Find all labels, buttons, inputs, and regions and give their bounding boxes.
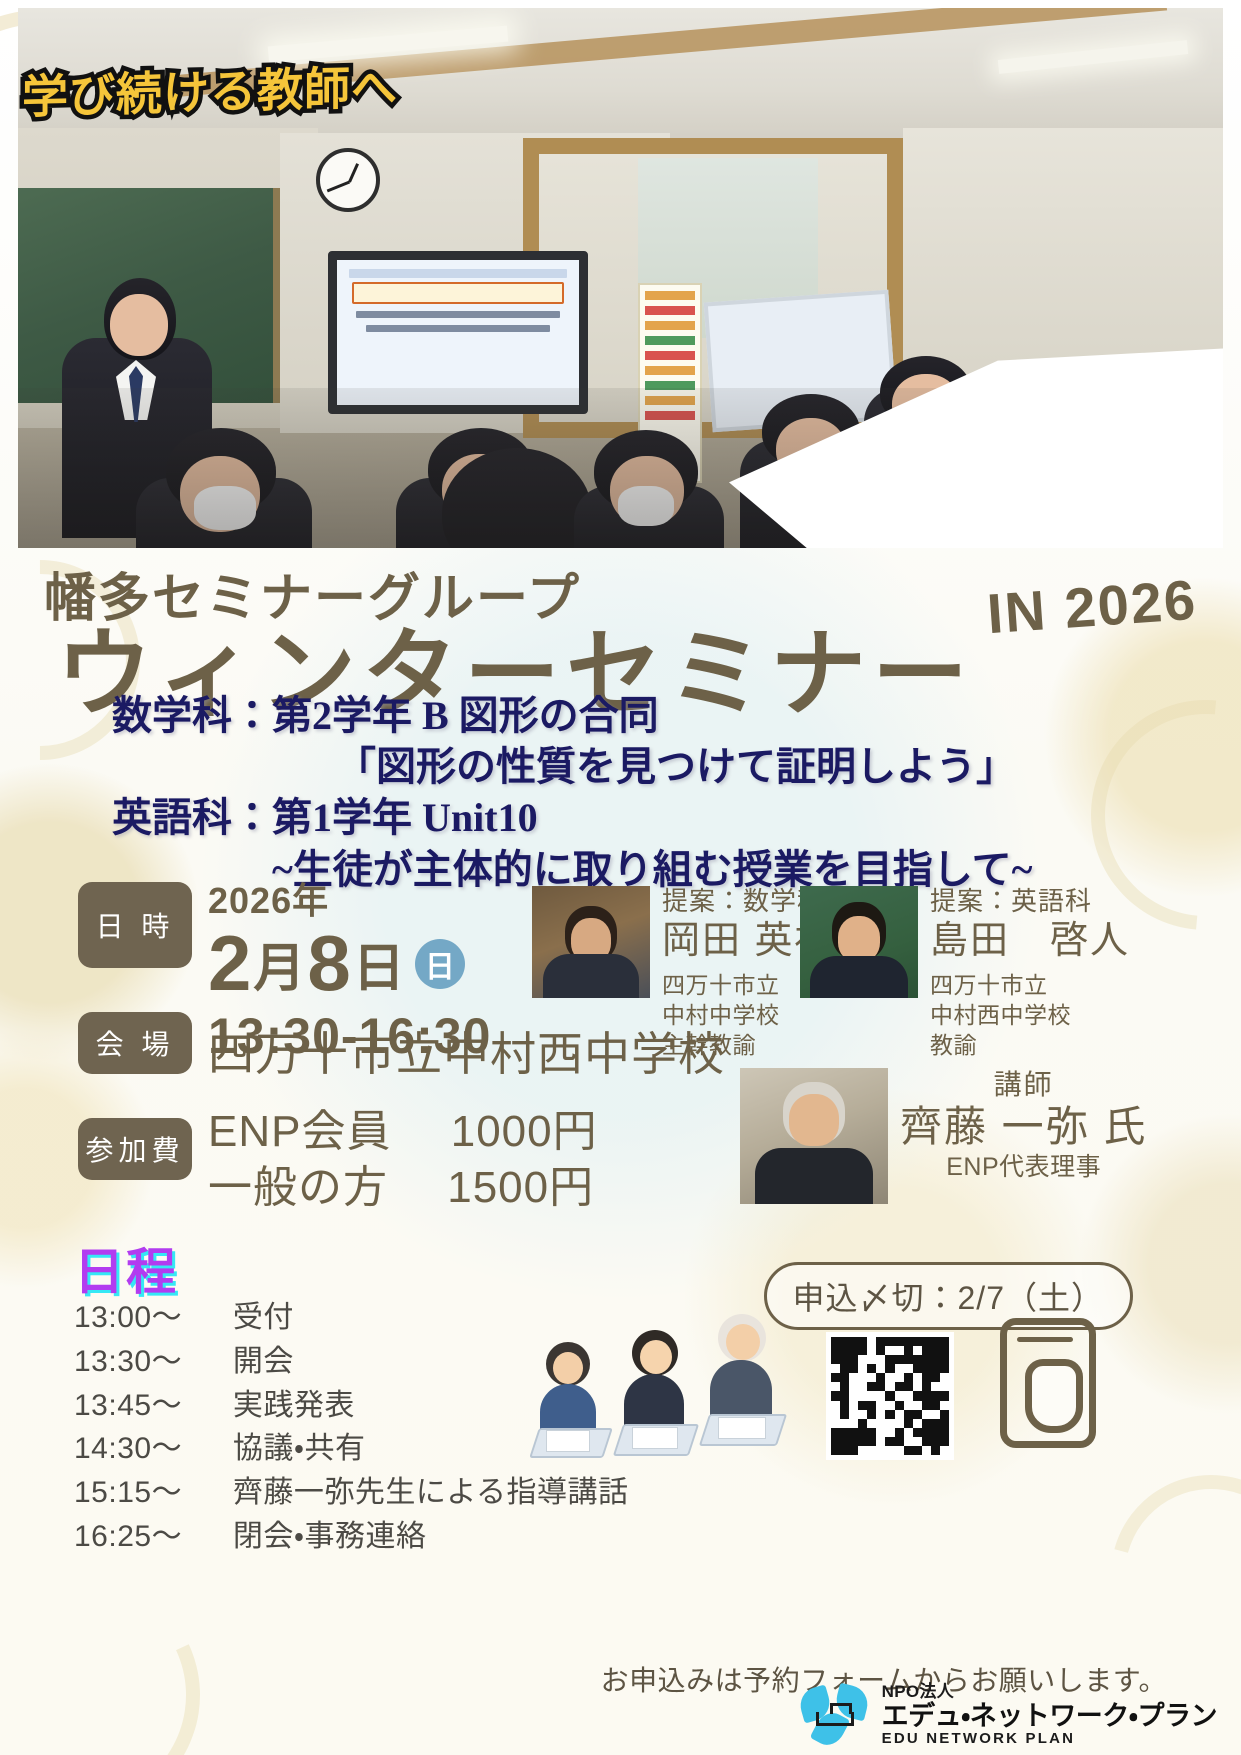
schedule-item: 15:15～ 齊藤一弥先生による指導講話 — [74, 1471, 628, 1515]
fee-badge: 参加費 — [78, 1118, 192, 1180]
fee-values: ENP会員 1000円 一般の方 1500円 — [208, 1104, 598, 1217]
lecturer: 講師 齊藤 一弥 氏 ENP代表理事 — [740, 1068, 1147, 1204]
hand-tap-phone-icon — [1000, 1318, 1096, 1448]
fee-amount-general: 1500円 — [447, 1163, 594, 1212]
presenter-english-affiliation-3: 教諭 — [930, 1031, 1130, 1061]
npo-logo: NPO法人 エデュ・ネットワーク・プラン EDU NETWORK PLAN — [800, 1683, 1217, 1747]
title-year: IN 2026 — [985, 567, 1199, 647]
schedule-time: 13:00～ — [74, 1296, 224, 1340]
presenter-english-affiliation-2: 中村西中学校 — [930, 1001, 1130, 1031]
schedule-time: 14:30～ — [74, 1427, 224, 1471]
qr-code[interactable] — [826, 1332, 954, 1460]
lecturer-role: 講師 — [900, 1068, 1147, 1102]
presenter-english-photo — [800, 886, 918, 998]
wall-clock — [316, 148, 380, 212]
datetime-month-unit: 月 — [253, 926, 305, 1001]
datetime-year: 2026年 — [208, 872, 491, 924]
schedule-time: 16:25～ — [74, 1515, 224, 1559]
datetime-row: 日 時 — [78, 882, 192, 968]
fee-label-member: ENP会員 — [208, 1107, 391, 1156]
venue-row: 会 場 — [78, 1012, 192, 1074]
presenter-english: 提案：英語科 島田 啓人 四万十市立 中村西中学校 教諭 — [800, 886, 1130, 1060]
illustration-seminar-attendees — [540, 1290, 790, 1470]
schedule-time: 13:30～ — [74, 1340, 224, 1384]
presenter-english-name: 島田 啓人 — [930, 919, 1130, 965]
venue-badge: 会 場 — [78, 1012, 192, 1074]
presenter-math-photo — [532, 886, 650, 998]
schedule-time: 13:45～ — [74, 1384, 224, 1428]
schedule-label: 開会 — [233, 1345, 294, 1378]
schedule-item: 16:25～ 閉会・事務連絡 — [74, 1515, 628, 1559]
schedule-label: 受付 — [233, 1301, 294, 1334]
lecturer-name: 齊藤 一弥 氏 — [900, 1102, 1147, 1152]
fee-row: 参加費 — [78, 1118, 192, 1180]
subject-line-math-title: 数学科：第2学年 B 図形の合同 — [0, 690, 1241, 741]
datetime-badge: 日 時 — [78, 882, 192, 968]
datetime-day-unit: 日 — [353, 926, 405, 1001]
schedule-label: 閉会・事務連絡 — [233, 1520, 427, 1553]
fee-label-general: 一般の方 — [208, 1163, 388, 1212]
datetime-month-number: 2 — [208, 918, 251, 1009]
flyer-root: NPO法人 エデュ・ネットワーク・プラン EDU NETWORK PLAN 学び… — [0, 0, 1241, 1755]
presenter-english-role: 提案：英語科 — [930, 886, 1130, 917]
subject-lines: 数学科：第2学年 B 図形の合同 「図形の性質を見つけて証明しよう」 英語科：第… — [0, 690, 1241, 895]
lecturer-affiliation: ENP代表理事 — [900, 1152, 1147, 1182]
schedule-label: 協議・共有 — [233, 1432, 366, 1465]
presenter-math: 提案：数学科 岡田 英祐 四万十市立 中村中学校 主幹教諭 — [532, 886, 835, 1060]
fee-amount-member: 1000円 — [451, 1107, 598, 1156]
datetime-day-of-week: 日 — [415, 939, 465, 989]
top-banner-headline: 学び続ける教師へ — [22, 51, 398, 127]
lecturer-photo — [740, 1068, 888, 1204]
schedule-label: 実践発表 — [233, 1389, 355, 1422]
logo-name-en: EDU NETWORK PLAN — [882, 1731, 1217, 1747]
logo-name-jp: エデュ・ネットワーク・プラン — [882, 1702, 1217, 1731]
schedule-label: 齊藤一弥先生による指導講話 — [233, 1476, 629, 1509]
schedule-title: 日程 — [74, 1232, 178, 1304]
datetime-day-number: 8 — [307, 918, 350, 1009]
edu-network-plan-bird-icon — [800, 1684, 870, 1746]
subject-line-math-theme: 「図形の性質を見つけて証明しよう」 — [0, 741, 1241, 792]
presenter-english-affiliation-1: 四万十市立 — [930, 971, 1130, 1001]
logo-npo-label: NPO法人 — [882, 1683, 1217, 1701]
schedule-time: 15:15～ — [74, 1471, 224, 1515]
subject-line-english-title: 英語科：第1学年 Unit10 — [0, 792, 1241, 843]
